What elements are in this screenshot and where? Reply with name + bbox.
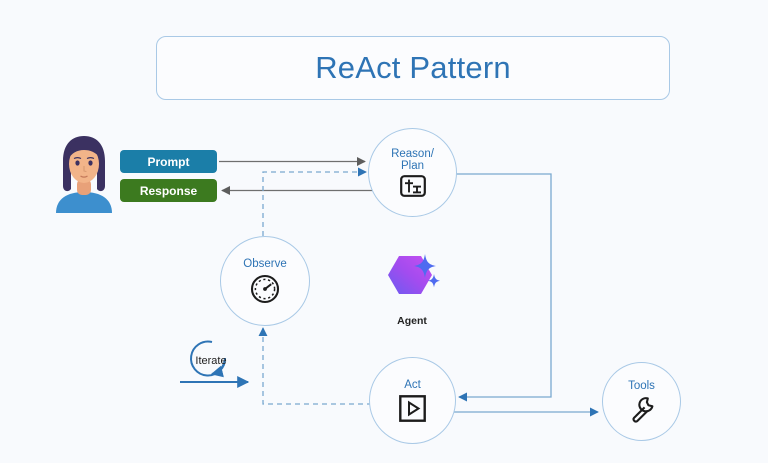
agent-hexagon-sparkle-icon (383, 252, 441, 311)
node-reason-plan-label: Reason/ Plan (391, 148, 434, 173)
page-title: ReAct Pattern (315, 50, 511, 86)
diagram-canvas: ReAct Pattern (0, 0, 768, 463)
connector-observe-to-reason (263, 172, 366, 236)
node-tools[interactable]: Tools (602, 362, 681, 441)
response-button[interactable]: Response (120, 179, 217, 202)
connector-act-to-observe (263, 328, 372, 404)
node-tools-label: Tools (628, 380, 655, 392)
page-title-box: ReAct Pattern (156, 36, 670, 100)
agent-logo-block: Agent (377, 252, 447, 324)
gauge-icon (250, 274, 280, 304)
prompt-button[interactable]: Prompt (120, 150, 217, 173)
iterate-label: Iterate (176, 355, 246, 367)
play-square-icon (399, 395, 426, 422)
agent-label: Agent (397, 315, 427, 327)
plan-blueprint-icon (400, 175, 426, 197)
node-act[interactable]: Act (369, 357, 456, 444)
node-observe[interactable]: Observe (220, 236, 310, 326)
connector-reason-to-act (451, 174, 551, 397)
prompt-label: Prompt (148, 155, 190, 169)
node-act-label: Act (404, 379, 421, 391)
response-label: Response (140, 184, 197, 198)
node-observe-label: Observe (243, 258, 286, 270)
wrench-icon (628, 395, 656, 423)
user-avatar (50, 131, 118, 213)
node-reason-plan[interactable]: Reason/ Plan (368, 128, 457, 217)
iterate-block: Iterate (176, 335, 258, 391)
